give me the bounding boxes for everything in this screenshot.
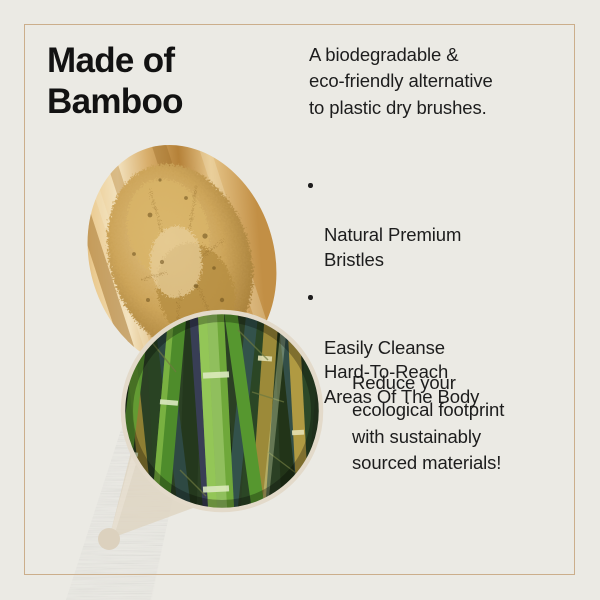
outro-paragraph: Reduce your ecological footprint with su… [352,370,567,477]
callout-anchor-dot [98,528,120,550]
feature-label: Natural Premium Bristles [324,224,461,270]
page-title: Made of Bamboo [47,40,297,123]
list-item: Natural Premium Bristles [306,174,564,272]
intro-paragraph: A biodegradable & eco-friendly alternati… [309,42,564,121]
infographic-canvas: Made of Bamboo A biodegradable & eco-fri… [0,0,600,600]
bullet-icon [308,295,313,300]
bullet-icon [308,183,313,188]
